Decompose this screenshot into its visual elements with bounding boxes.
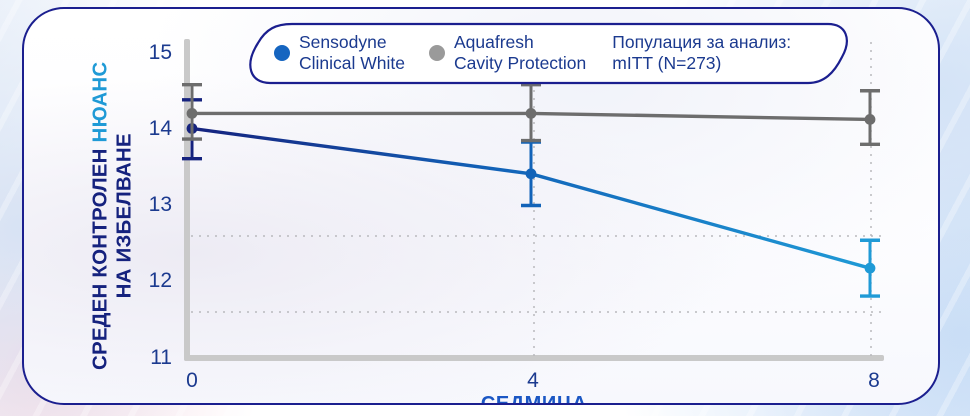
legend-item-sensodyne: SensodyneClinical White [274,32,405,75]
legend-item-aquafresh: AquafreshCavity Protection [429,32,586,75]
legend-population-note: Популация за анализ:mITT (N=273) [612,32,791,75]
legend-label-sensodyne: SensodyneClinical White [299,32,405,75]
legend-dot-aquafresh [429,45,445,61]
y-tick-15: 15 [52,41,172,65]
data-series-layer [184,39,884,361]
legend-dot-sensodyne [274,45,290,61]
chart-screenshot: СРЕДЕН КОНТРОЛЕН НЮАНС НА ИЗБЕЛВАНЕ 15 1… [0,0,970,416]
legend-label-aquafresh: AquafreshCavity Protection [454,32,586,75]
y-tick-14: 14 [52,117,172,141]
y-tick-12: 12 [52,269,172,293]
x-tick-8: 8 [868,369,880,393]
plot-area: 15 14 13 12 11 0 4 8 СЕДМИЦА [184,39,884,361]
y-tick-13: 13 [52,193,172,217]
y-axis-title-line1-a: СРЕДЕН КОНТРОЛЕН [88,143,111,371]
x-axis-title: СЕДМИЦА [184,393,884,405]
y-tick-11: 11 [52,346,172,370]
x-tick-0: 0 [186,369,198,393]
series-aquafresh [182,85,880,145]
chart-frame: СРЕДЕН КОНТРОЛЕН НЮАНС НА ИЗБЕЛВАНЕ 15 1… [22,7,940,405]
legend: SensodyneClinical White AquafreshCavity … [240,21,860,85]
x-tick-4: 4 [527,369,539,393]
